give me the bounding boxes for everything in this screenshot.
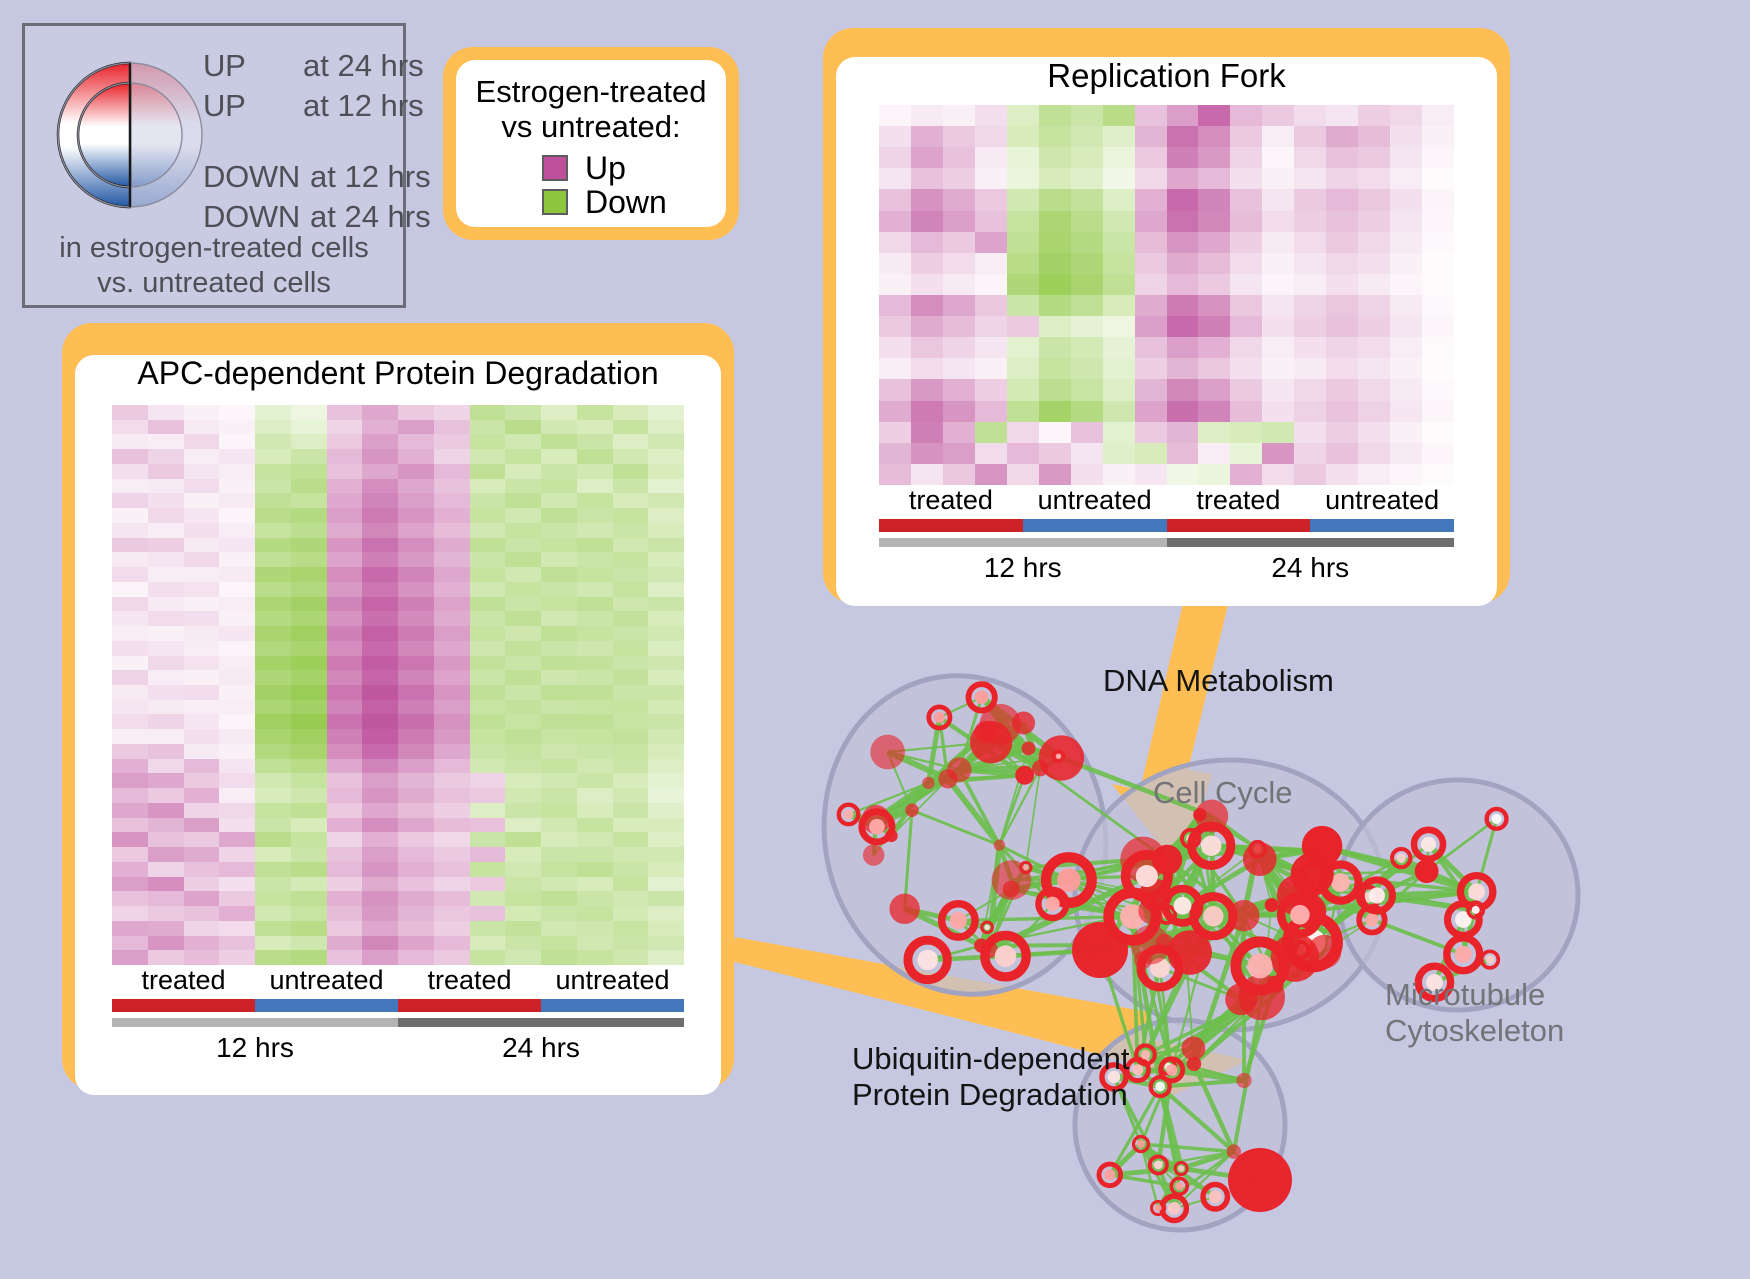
heatmap-cell: [219, 685, 255, 700]
heatmap-cell: [398, 832, 434, 847]
heatmap-cell: [398, 818, 434, 833]
heatmap-cell: [975, 105, 1007, 126]
heatmap-cell: [291, 891, 327, 906]
heatmap-cell: [470, 906, 506, 921]
heatmap-cell: [879, 189, 911, 210]
heatmap-cell: [1294, 401, 1326, 422]
heatmap-cell: [470, 464, 506, 479]
heatmap-cell: [613, 611, 649, 626]
heatmap-cell: [255, 508, 291, 523]
heatmap-cell: [1294, 105, 1326, 126]
heatmap-cell: [975, 443, 1007, 464]
network-node[interactable]: [1228, 900, 1259, 931]
heatmap-cell: [184, 847, 220, 862]
time-bar-12hrs: [112, 1018, 398, 1027]
heatmap-cell: [1358, 253, 1390, 274]
condition-bar-untreated: [541, 999, 684, 1012]
heatmap-cell: [1358, 316, 1390, 337]
heatmap-cell: [1294, 295, 1326, 316]
heatmap-cell: [879, 379, 911, 400]
heatmap-cell: [1294, 464, 1326, 485]
heatmap-cell: [975, 337, 1007, 358]
heatmap-cell: [1007, 422, 1039, 443]
heatmap-cell: [1358, 147, 1390, 168]
network-node[interactable]: [1022, 741, 1036, 755]
heatmap-cell: [577, 538, 613, 553]
heatmap-cell: [1262, 253, 1294, 274]
heatmap-cell: [975, 316, 1007, 337]
heatmap-cell: [184, 449, 220, 464]
heatmap-cell: [184, 420, 220, 435]
heatmap-cell: [505, 641, 541, 656]
heatmap-cell: [362, 921, 398, 936]
heatmap-cell: [879, 337, 911, 358]
heatmap-cell: [1390, 295, 1422, 316]
heatmap-cell: [1167, 253, 1199, 274]
heatmap-cell: [1358, 379, 1390, 400]
heatmap-cell: [219, 729, 255, 744]
heatmap-cell: [184, 479, 220, 494]
heatmap-cell: [291, 862, 327, 877]
heatmap-cell: [648, 670, 684, 685]
heatmap-cell: [1039, 232, 1071, 253]
network-node[interactable]: [1072, 922, 1128, 978]
network-node[interactable]: [938, 769, 957, 788]
heatmap-cell: [613, 552, 649, 567]
heatmap-cell: [255, 420, 291, 435]
heatmap-cell: [184, 744, 220, 759]
heatmap-cell: [148, 729, 184, 744]
network-node-core: [843, 809, 853, 819]
heatmap-cell: [112, 788, 148, 803]
heatmap-cell: [255, 891, 291, 906]
condition-bar-untreated: [1310, 519, 1454, 532]
heatmap-cell: [398, 508, 434, 523]
heatmap-cell: [434, 685, 470, 700]
network-node[interactable]: [870, 735, 905, 770]
heatmap-cell: [327, 567, 363, 582]
heatmap-cell: [613, 582, 649, 597]
heatmap-cell: [362, 788, 398, 803]
heatmap-cell: [1262, 147, 1294, 168]
heatmap-cell: [362, 685, 398, 700]
heatmap-cell: [148, 847, 184, 862]
heatmap-cell: [648, 906, 684, 921]
heatmap-cell: [1198, 189, 1230, 210]
heatmap-cell: [112, 420, 148, 435]
network-node-core: [1154, 1161, 1163, 1170]
heatmap-cell: [648, 552, 684, 567]
heatmap-cell: [219, 744, 255, 759]
heatmap-cell: [398, 744, 434, 759]
cluster-label-ubiquitin-line2: Protein Degradation: [852, 1077, 1130, 1113]
heatmap-cell: [541, 847, 577, 862]
heatmap-cell: [470, 508, 506, 523]
heatmap-cell: [1103, 126, 1135, 147]
heatmap-cell: [255, 656, 291, 671]
heatmap-cell: [219, 656, 255, 671]
heatmap-cell: [362, 479, 398, 494]
heatmap-cell: [184, 641, 220, 656]
apc-degradation-heatmap: [112, 405, 684, 965]
heatmap-cell: [1358, 464, 1390, 485]
heatmap-cell: [255, 552, 291, 567]
heatmap-cell: [648, 523, 684, 538]
heatmap-cell: [1135, 211, 1167, 232]
heatmap-cell: [255, 479, 291, 494]
heatmap-cell: [648, 508, 684, 523]
network-node-core: [984, 925, 990, 931]
heatmap-cell: [398, 759, 434, 774]
heatmap-cell: [1422, 168, 1454, 189]
heatmap-cell: [219, 611, 255, 626]
heatmap-cell: [434, 818, 470, 833]
heatmap-cell: [541, 788, 577, 803]
heatmap-cell: [577, 773, 613, 788]
heatmap-cell: [291, 420, 327, 435]
heatmap-cell: [613, 449, 649, 464]
heatmap-cell: [112, 508, 148, 523]
heatmap-cell: [879, 147, 911, 168]
network-node-core: [934, 712, 945, 723]
heatmap-cell: [470, 891, 506, 906]
heatmap-cell: [1358, 295, 1390, 316]
heatmap-cell: [112, 700, 148, 715]
heatmap-cell: [327, 685, 363, 700]
wheel-caption-line2: vs. untreated cells: [25, 266, 403, 301]
heatmap-cell: [1039, 189, 1071, 210]
heatmap-cell: [1230, 358, 1262, 379]
heatmap-cell: [1294, 253, 1326, 274]
heatmap-cell: [1422, 379, 1454, 400]
network-node-core: [1369, 887, 1385, 903]
swatch-up-icon: [542, 155, 568, 181]
heatmap-cell: [648, 832, 684, 847]
heatmap-cell: [505, 847, 541, 862]
heatmap-cell: [255, 626, 291, 641]
heatmap-cell: [327, 420, 363, 435]
heatmap-cell: [398, 847, 434, 862]
heatmap-cell: [943, 316, 975, 337]
heatmap-cell: [362, 832, 398, 847]
heatmap-cell: [505, 449, 541, 464]
heatmap-cell: [1198, 295, 1230, 316]
time-label-24hrs: 24 hrs: [1167, 552, 1455, 584]
heatmap-cell: [975, 379, 1007, 400]
heatmap-cell: [219, 803, 255, 818]
heatmap-cell: [255, 523, 291, 538]
heatmap-cell: [1135, 464, 1167, 485]
heatmap-cell: [505, 508, 541, 523]
heatmap-cell: [975, 358, 1007, 379]
heatmap-cell: [112, 906, 148, 921]
heatmap-cell: [255, 788, 291, 803]
heatmap-cell: [184, 405, 220, 420]
heatmap-cell: [1326, 379, 1358, 400]
heatmap-cell: [255, 493, 291, 508]
heatmap-cell: [470, 641, 506, 656]
heatmap-cell: [327, 906, 363, 921]
heatmap-cell: [1103, 253, 1135, 274]
heatmap-cell: [1230, 316, 1262, 337]
heatmap-cell: [327, 744, 363, 759]
heatmap-cell: [648, 420, 684, 435]
heatmap-cell: [184, 862, 220, 877]
heatmap-cell: [219, 773, 255, 788]
network-node[interactable]: [1032, 760, 1048, 776]
network-node-core: [1045, 897, 1060, 912]
heatmap-cell: [613, 626, 649, 641]
heatmap-cell: [219, 626, 255, 641]
heatmap-cell: [398, 611, 434, 626]
heatmap-cell: [1294, 168, 1326, 189]
heatmap-cell: [1198, 337, 1230, 358]
network-node-core: [1174, 897, 1192, 915]
heatmap-cell: [541, 434, 577, 449]
heatmap-cell: [879, 126, 911, 147]
heatmap-cell: [148, 611, 184, 626]
apc-time-labels: 12 hrs 24 hrs: [112, 1032, 684, 1064]
heatmap-cell: [943, 337, 975, 358]
network-node[interactable]: [1225, 983, 1257, 1015]
heatmap-cell: [255, 921, 291, 936]
network-node-core: [1247, 953, 1272, 978]
heatmap-cell: [577, 597, 613, 612]
heatmap-cell: [327, 877, 363, 892]
heatmap-cell: [1230, 274, 1262, 295]
heatmap-cell: [1262, 379, 1294, 400]
heatmap-cell: [541, 832, 577, 847]
network-node[interactable]: [905, 804, 918, 817]
heatmap-cell: [148, 670, 184, 685]
heatmap-cell: [541, 803, 577, 818]
heatmap-cell: [1135, 147, 1167, 168]
heatmap-cell: [398, 803, 434, 818]
network-node[interactable]: [1187, 1057, 1201, 1071]
heatmap-cell: [398, 936, 434, 951]
heatmap-cell: [943, 464, 975, 485]
heatmap-cell: [505, 744, 541, 759]
heatmap-cell: [975, 295, 1007, 316]
heatmap-cell: [255, 818, 291, 833]
heatmap-cell: [470, 847, 506, 862]
heatmap-cell: [613, 508, 649, 523]
network-node[interactable]: [1167, 930, 1212, 975]
network-node-core: [1421, 837, 1436, 852]
heatmap-cell: [505, 832, 541, 847]
heatmap-cell: [648, 538, 684, 553]
heatmap-cell: [911, 379, 943, 400]
heatmap-cell: [327, 552, 363, 567]
heatmap-cell: [470, 479, 506, 494]
heatmap-cell: [577, 877, 613, 892]
heatmap-cell: [648, 582, 684, 597]
heatmap-cell: [434, 950, 470, 965]
heatmap-cell: [148, 434, 184, 449]
heatmap-cell: [648, 567, 684, 582]
heatmap-cell: [613, 906, 649, 921]
heatmap-cell: [291, 759, 327, 774]
heatmap-cell: [943, 105, 975, 126]
heatmap-cell: [1103, 337, 1135, 358]
heatmap-cell: [327, 538, 363, 553]
heatmap-cell: [1262, 337, 1294, 358]
heatmap-cell: [398, 950, 434, 965]
heatmap-cell: [434, 508, 470, 523]
heatmap-cell: [1103, 168, 1135, 189]
heatmap-cell: [1326, 211, 1358, 232]
heatmap-cell: [1039, 464, 1071, 485]
heatmap-cell: [219, 552, 255, 567]
heatmap-cell: [148, 493, 184, 508]
heatmap-cell: [648, 479, 684, 494]
heatmap-cell: [577, 479, 613, 494]
heatmap-cell: [291, 405, 327, 420]
network-node[interactable]: [889, 894, 919, 924]
heatmap-cell: [148, 656, 184, 671]
heatmap-cell: [577, 729, 613, 744]
heatmap-cell: [327, 611, 363, 626]
heatmap-cell: [1422, 422, 1454, 443]
heatmap-cell: [613, 877, 649, 892]
heatmap-cell: [1039, 316, 1071, 337]
heatmap-cell: [327, 434, 363, 449]
heatmap-cell: [184, 714, 220, 729]
heatmap-cell: [148, 936, 184, 951]
heatmap-cell: [1326, 147, 1358, 168]
heatmap-cell: [577, 759, 613, 774]
heatmap-cell: [291, 567, 327, 582]
heatmap-cell: [577, 567, 613, 582]
heatmap-cell: [219, 493, 255, 508]
heatmap-cell: [1294, 316, 1326, 337]
network-node-core: [1155, 1082, 1165, 1092]
heatmap-cell: [1294, 126, 1326, 147]
network-node[interactable]: [885, 830, 898, 843]
heatmap-cell: [505, 567, 541, 582]
heatmap-cell: [1294, 422, 1326, 443]
network-node[interactable]: [922, 777, 934, 789]
heatmap-cell: [434, 773, 470, 788]
heatmap-cell: [943, 189, 975, 210]
heatmap-cell: [291, 729, 327, 744]
heatmap-cell: [943, 295, 975, 316]
heatmap-cell: [434, 788, 470, 803]
heatmap-cell: [112, 685, 148, 700]
network-node[interactable]: [1015, 766, 1034, 785]
heatmap-cell: [577, 714, 613, 729]
heatmap-cell: [1103, 358, 1135, 379]
heatmap-cell: [434, 449, 470, 464]
heatmap-cell: [112, 803, 148, 818]
updown-key-title-line1: Estrogen-treated: [464, 74, 718, 109]
heatmap-cell: [943, 168, 975, 189]
heatmap-cell: [577, 950, 613, 965]
heatmap-cell: [1422, 126, 1454, 147]
heatmap-cell: [879, 443, 911, 464]
heatmap-cell: [1071, 253, 1103, 274]
heatmap-cell: [470, 405, 506, 420]
heatmap-cell: [362, 493, 398, 508]
network-node[interactable]: [1415, 859, 1439, 883]
heatmap-cell: [943, 147, 975, 168]
network-node-core: [1201, 835, 1221, 855]
condition-label: untreated: [541, 965, 684, 996]
heatmap-cell: [1198, 422, 1230, 443]
heatmap-cell: [327, 523, 363, 538]
heatmap-cell: [184, 434, 220, 449]
wheel-time-up-24: at 24 hrs: [303, 48, 424, 84]
colour-wheel-legend: UP at 24 hrs UP at 12 hrs DOWN at 12 hrs…: [22, 23, 406, 308]
network-node[interactable]: [1307, 935, 1341, 969]
heatmap-cell: [470, 862, 506, 877]
heatmap-cell: [541, 936, 577, 951]
heatmap-cell: [1167, 464, 1199, 485]
heatmap-cell: [219, 936, 255, 951]
heatmap-cell: [398, 921, 434, 936]
network-node[interactable]: [1134, 951, 1152, 969]
heatmap-cell: [1294, 211, 1326, 232]
network-node[interactable]: [1265, 898, 1279, 912]
heatmap-cell: [505, 538, 541, 553]
network-node[interactable]: [863, 844, 884, 865]
network-node[interactable]: [1182, 1037, 1206, 1061]
heatmap-cell: [1007, 316, 1039, 337]
heatmap-cell: [255, 449, 291, 464]
heatmap-cell: [1167, 358, 1199, 379]
heatmap-cell: [613, 700, 649, 715]
heatmap-cell: [1135, 232, 1167, 253]
heatmap-cell: [255, 434, 291, 449]
heatmap-cell: [184, 759, 220, 774]
heatmap-cell: [219, 759, 255, 774]
heatmap-cell: [1135, 443, 1167, 464]
heatmap-cell: [470, 788, 506, 803]
heatmap-cell: [911, 126, 943, 147]
network-node[interactable]: [1243, 842, 1277, 876]
heatmap-cell: [255, 936, 291, 951]
heatmap-cell: [148, 582, 184, 597]
heatmap-cell: [148, 449, 184, 464]
heatmap-cell: [1071, 147, 1103, 168]
heatmap-cell: [1198, 464, 1230, 485]
cluster-label-microtubule-line2: Cytoskeleton: [1385, 1013, 1564, 1049]
network-node[interactable]: [1282, 939, 1299, 956]
heatmap-cell: [541, 877, 577, 892]
heatmap-cell: [1167, 274, 1199, 295]
heatmap-cell: [362, 449, 398, 464]
heatmap-cell: [879, 422, 911, 443]
heatmap-cell: [255, 670, 291, 685]
cluster-label-ubiquitin: Ubiquitin-dependent Protein Degradation: [852, 1041, 1130, 1112]
heatmap-cell: [327, 597, 363, 612]
heatmap-cell: [1262, 422, 1294, 443]
heatmap-cell: [1390, 211, 1422, 232]
network-node[interactable]: [994, 839, 1005, 850]
heatmap-cell: [184, 493, 220, 508]
heatmap-cell: [470, 950, 506, 965]
heatmap-cell: [505, 921, 541, 936]
heatmap-cell: [577, 656, 613, 671]
cluster-label-ubiquitin-line1: Ubiquitin-dependent: [852, 1041, 1130, 1077]
heatmap-cell: [148, 626, 184, 641]
network-node[interactable]: [1228, 1148, 1292, 1212]
network-node[interactable]: [970, 721, 1012, 763]
heatmap-cell: [255, 567, 291, 582]
heatmap-cell: [327, 641, 363, 656]
heatmap-cell: [184, 803, 220, 818]
network-node[interactable]: [1236, 1073, 1251, 1088]
